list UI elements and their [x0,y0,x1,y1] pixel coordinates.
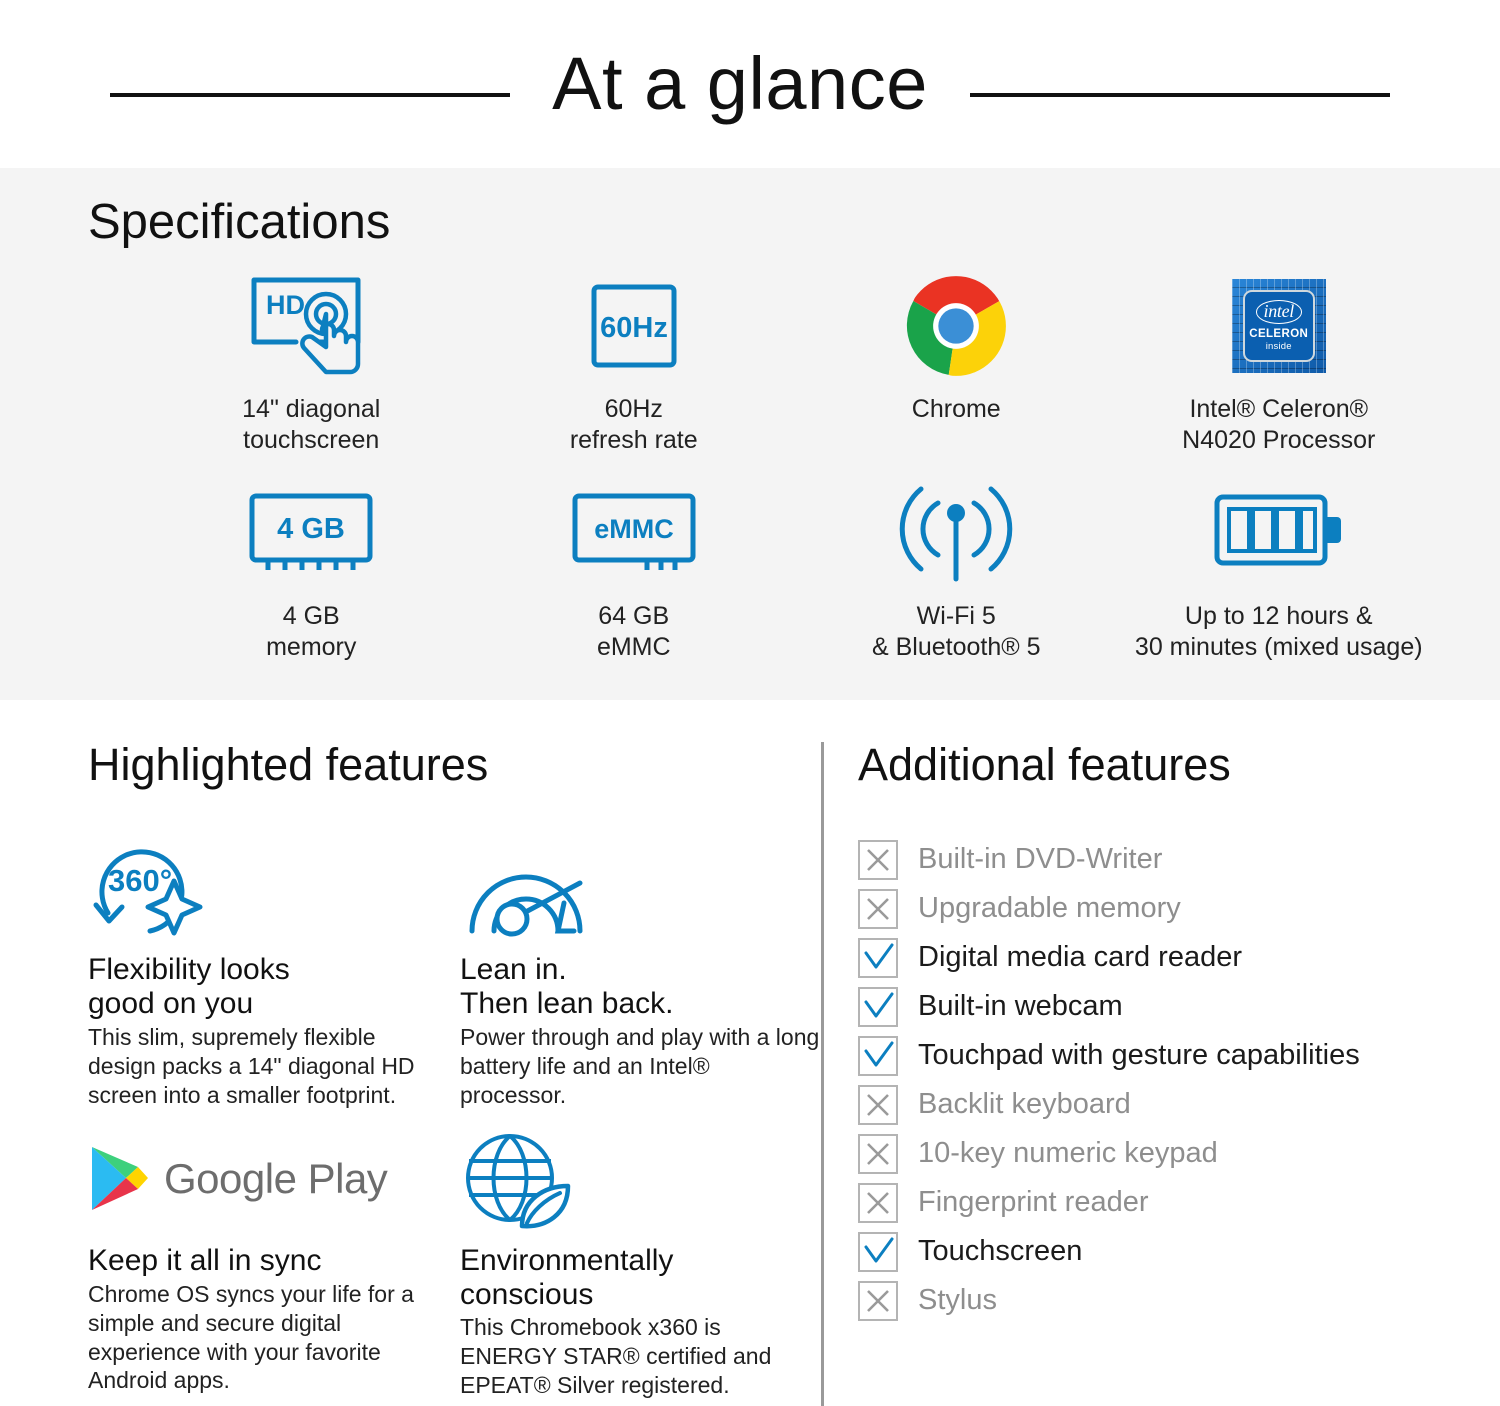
highlighted-features-grid: 360° Flexibility looks good on you This … [88,833,798,1400]
highlighted-feature-google-play: Google Play Keep it all in sync Chrome O… [88,1124,448,1401]
chrome-logo-icon [904,272,1008,380]
at-a-glance-page: At a glance Specifications HD 14" diagon… [0,0,1500,1406]
additional-features-column: Additional features Built-in DVD-Writer … [858,742,1458,1325]
360-rotation-icon: 360° [88,833,448,943]
spec-label: Wi-Fi 5 & Bluetooth® 5 [872,601,1041,664]
additional-feature-label: Upgradable memory [918,894,1181,923]
spec-label: Intel® Celeron® N4020 Processor [1182,394,1375,457]
additional-feature-row: Digital media card reader [858,933,1458,982]
additional-feature-label: Fingerprint reader [918,1188,1149,1217]
lower-section: Highlighted features 360° Flexibility lo… [0,700,1500,1406]
google-play-wordmark: Google Play [164,1155,387,1203]
additional-feature-label: Stylus [918,1286,997,1315]
globe-leaf-icon [460,1124,820,1234]
specifications-panel: Specifications HD 14" diagonal touchscre… [0,168,1500,700]
highlighted-feature-performance: Lean in. Then lean back. Power through a… [460,833,820,1110]
svg-text:60Hz: 60Hz [600,312,668,344]
page-title: At a glance [552,47,928,121]
spec-item-refresh-rate: 60Hz 60Hz refresh rate [473,272,796,457]
cross-icon [858,840,898,880]
additional-feature-label: Built-in DVD-Writer [918,845,1162,874]
additional-feature-row: Touchpad with gesture capabilities [858,1031,1458,1080]
intel-celeron-badge-icon: intel CELERON inside [1232,272,1326,380]
cross-icon [858,1134,898,1174]
spec-label: Up to 12 hours & 30 minutes (mixed usage… [1135,601,1423,664]
feature-body: This Chromebook x360 is ENERGY STAR® cer… [460,1313,820,1400]
additional-feature-label: 10-key numeric keypad [918,1139,1218,1168]
spec-item-memory: 4 GB 4 GB memory [150,479,473,664]
feature-heading: Environmentally conscious [460,1244,820,1312]
svg-text:4 GB: 4 GB [277,513,345,545]
spec-label: 64 GB eMMC [597,601,671,664]
check-icon [858,1232,898,1272]
svg-text:360°: 360° [108,863,172,898]
memory-module-icon: 4 GB [244,479,378,587]
cross-icon [858,1085,898,1125]
additional-feature-row: Fingerprint reader [858,1178,1458,1227]
additional-features-title: Additional features [858,742,1458,787]
specifications-title: Specifications [88,196,390,250]
cross-icon [858,1281,898,1321]
additional-feature-row: Touchscreen [858,1227,1458,1276]
feature-body: This slim, supremely flexible design pac… [88,1023,448,1110]
additional-feature-row: Built-in DVD-Writer [858,835,1458,884]
hd-touchscreen-icon: HD [248,272,374,380]
feature-body: Chrome OS syncs your life for a simple a… [88,1280,448,1396]
cross-icon [858,1183,898,1223]
svg-text:HD: HD [266,290,305,320]
spec-item-storage: eMMC 64 GB eMMC [473,479,796,664]
check-icon [858,1036,898,1076]
feature-body: Power through and play with a long batte… [460,1023,820,1110]
feature-heading: Keep it all in sync [88,1244,448,1278]
additional-feature-row: Stylus [858,1276,1458,1325]
additional-feature-row: 10-key numeric keypad [858,1129,1458,1178]
page-header: At a glance [0,0,1500,168]
title-rule-left [110,93,510,97]
feature-heading: Lean in. Then lean back. [460,953,820,1021]
speedometer-icon [460,833,820,943]
highlighted-features-column: Highlighted features 360° Flexibility lo… [88,742,798,1400]
spec-item-wireless: Wi-Fi 5 & Bluetooth® 5 [795,479,1118,664]
spec-label: 14" diagonal touchscreen [242,394,380,457]
spec-item-touchscreen: HD 14" diagonal touchscreen [150,272,473,457]
cross-icon [858,889,898,929]
check-icon [858,938,898,978]
title-rule-right [970,93,1390,97]
svg-text:eMMC: eMMC [594,514,674,544]
refresh-rate-icon: 60Hz [580,272,688,380]
spec-item-chrome: Chrome [795,272,1118,457]
spec-item-processor: intel CELERON inside Intel® Celeron® N40… [1118,272,1441,457]
highlighted-feature-environment: Environmentally conscious This Chromeboo… [460,1124,820,1401]
battery-icon [1211,479,1347,587]
column-divider [821,742,824,1406]
highlighted-feature-flexibility: 360° Flexibility looks good on you This … [88,833,448,1110]
feature-heading: Flexibility looks good on you [88,953,448,1021]
additional-feature-label: Touchscreen [918,1237,1082,1266]
spec-label: 4 GB memory [266,601,356,664]
highlighted-features-title: Highlighted features [88,742,798,787]
google-play-logo-icon: Google Play [88,1124,448,1234]
check-icon [858,987,898,1027]
wifi-antenna-icon [897,479,1015,587]
spec-label: 60Hz refresh rate [570,394,698,457]
additional-feature-label: Backlit keyboard [918,1090,1131,1119]
additional-feature-row: Built-in webcam [858,982,1458,1031]
additional-feature-label: Touchpad with gesture capabilities [918,1041,1360,1070]
additional-feature-label: Built-in webcam [918,992,1123,1021]
specifications-grid: HD 14" diagonal touchscreen 60Hz 60Hz [150,272,1440,663]
spec-item-battery: Up to 12 hours & 30 minutes (mixed usage… [1118,479,1441,664]
spec-label: Chrome [912,394,1001,425]
additional-feature-label: Digital media card reader [918,943,1242,972]
additional-feature-row: Upgradable memory [858,884,1458,933]
additional-feature-row: Backlit keyboard [858,1080,1458,1129]
additional-features-list: Built-in DVD-Writer Upgradable memory Di… [858,835,1458,1325]
emmc-storage-icon: eMMC [567,479,701,587]
